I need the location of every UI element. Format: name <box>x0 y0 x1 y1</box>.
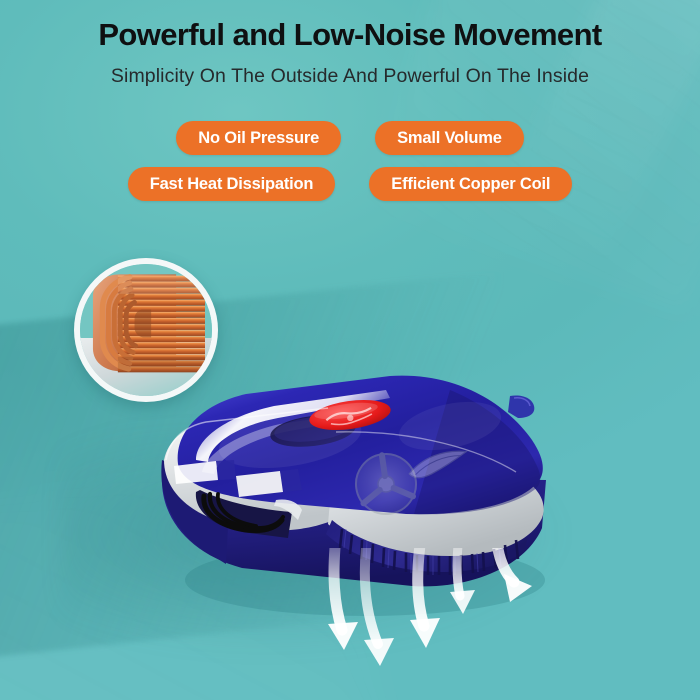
airflow-arrow-3 <box>410 548 440 648</box>
header-block: Powerful and Low-Noise Movement Simplici… <box>0 18 700 89</box>
copper-coil-icon <box>87 272 206 375</box>
feature-pill-group: No Oil Pressure Small Volume Fast Heat D… <box>0 121 700 213</box>
feature-pill-row-2: Fast Heat Dissipation Efficient Copper C… <box>0 167 700 201</box>
feature-pill-fast-heat-dissipation[interactable]: Fast Heat Dissipation <box>128 167 336 201</box>
page-title: Powerful and Low-Noise Movement <box>0 18 700 51</box>
product-feature-banner: Powerful and Low-Noise Movement Simplici… <box>0 0 700 700</box>
feature-pill-no-oil-pressure[interactable]: No Oil Pressure <box>176 121 341 155</box>
feature-pill-small-volume[interactable]: Small Volume <box>375 121 524 155</box>
page-subtitle: Simplicity On The Outside And Powerful O… <box>0 65 700 88</box>
airflow-arrows <box>320 548 570 698</box>
feature-pill-row-1: No Oil Pressure Small Volume <box>0 121 700 155</box>
airflow-arrow-4 <box>450 548 475 614</box>
feature-pill-efficient-copper-coil[interactable]: Efficient Copper Coil <box>369 167 572 201</box>
airflow-arrow-2 <box>364 548 394 666</box>
airflow-arrow-5 <box>496 548 532 602</box>
airflow-arrow-1 <box>328 548 358 650</box>
